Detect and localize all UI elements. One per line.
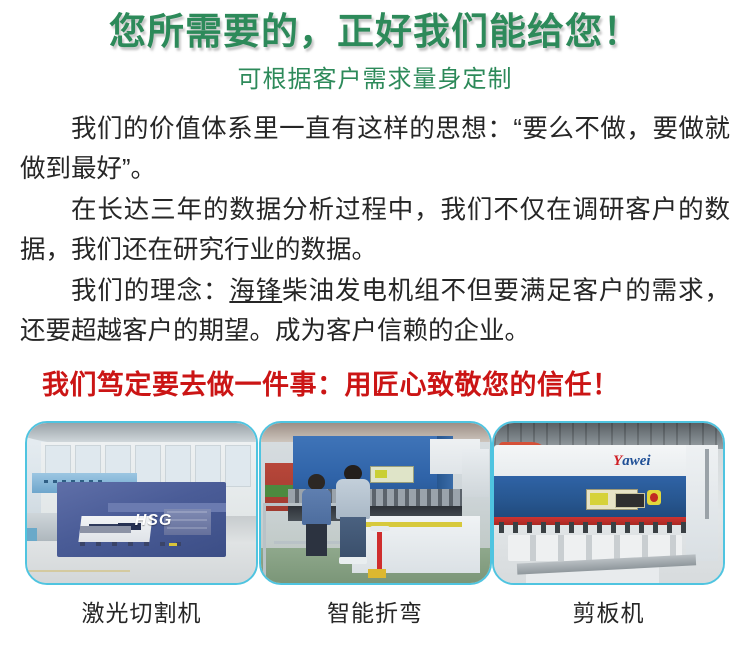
- hold-down-clamps: [499, 522, 687, 533]
- press-brake-side-cover: [462, 449, 489, 497]
- floor-bracket: [169, 543, 177, 546]
- floor-marking: [27, 570, 130, 572]
- shearing-machine-photo: Yawei: [494, 423, 723, 583]
- yawei-logo-rest: awei: [622, 453, 650, 469]
- yellow-toolbox: [368, 569, 386, 579]
- yawei-brand-logo: Yawei: [613, 453, 651, 470]
- worker-legs: [340, 517, 366, 557]
- hsg-brand-logo: HSG: [135, 512, 173, 530]
- gallery-item-press-brake[interactable]: 智能折弯: [259, 421, 492, 628]
- promo-page: 您所需要的，正好我们能给您！ 可根据客户需求量身定制 我们的价值体系里一直有这样…: [0, 0, 750, 661]
- window-pane: [165, 445, 191, 487]
- emergency-stop-button[interactable]: [647, 490, 661, 504]
- gallery-caption-shearing-machine: 剪板机: [492, 585, 725, 628]
- brand-name-link[interactable]: 海锋: [229, 277, 282, 305]
- machine-legs: [80, 542, 182, 546]
- body-copy: 我们的价值体系里一直有这样的思想：“要么不做，要做就做到最好”。 在长达三年的数…: [20, 92, 730, 351]
- laser-cutting-machine-photo: HSG: [27, 423, 256, 583]
- shear-side-column: [686, 445, 718, 560]
- page-headline: 您所需要的，正好我们能给您！: [0, 0, 750, 50]
- paragraph-philosophy: 我们的理念：海锋柴油发电机组不但要满足客户的需求，还要超越客户的期望。成为客户信…: [20, 271, 730, 351]
- equipment-gallery: HSG 激光切割机: [25, 402, 725, 628]
- window-pane: [195, 445, 221, 487]
- red-stand-pole: [377, 532, 382, 574]
- worker-background: [302, 474, 332, 554]
- worker-foreground: [336, 465, 370, 564]
- paragraph-data-analysis: 在长达三年的数据分析过程中，我们不仅在调研客户的数据，我们还在研究行业的数据。: [20, 190, 730, 270]
- machine-lower-panel: [80, 526, 131, 533]
- window-pane: [225, 445, 251, 487]
- side-workbench: [27, 513, 59, 542]
- worker-torso: [302, 489, 332, 526]
- control-display: [615, 493, 644, 508]
- photo-frame-shearing-machine: Yawei: [492, 421, 725, 585]
- laser-cutter-body: HSG: [57, 482, 226, 557]
- page-subheadline: 可根据客户需求量身定制: [0, 50, 750, 92]
- gallery-caption-press-brake: 智能折弯: [259, 585, 492, 628]
- gallery-caption-laser-cutter: 激光切割机: [25, 585, 258, 628]
- enclosure-vents: [167, 511, 207, 534]
- gallery-item-laser-cutter[interactable]: HSG 激光切割机: [25, 421, 258, 628]
- worker-head: [308, 474, 324, 490]
- window-pane: [135, 445, 161, 487]
- photo-frame-laser-cutter: HSG: [25, 421, 258, 585]
- hydraulic-pipe: [705, 449, 710, 519]
- gallery-item-shearing-machine[interactable]: Yawei 剪板机: [492, 421, 725, 628]
- worker-legs: [306, 524, 327, 556]
- philosophy-prefix: 我们的理念：: [71, 277, 229, 305]
- worker-shoes: [339, 557, 366, 564]
- photo-frame-press-brake: [259, 421, 492, 585]
- slogan-text: 我们笃定要去做一件事：用匠心致敬您的信任！: [20, 352, 730, 402]
- paragraph-value-system: 我们的价值体系里一直有这样的思想：“要么不做，要做就做到最好”。: [20, 109, 730, 189]
- yawei-logo-initial: Y: [613, 453, 622, 469]
- worker-torso: [336, 479, 370, 519]
- press-brake-machine-photo: [261, 423, 490, 583]
- machine-warning-label: [370, 466, 413, 482]
